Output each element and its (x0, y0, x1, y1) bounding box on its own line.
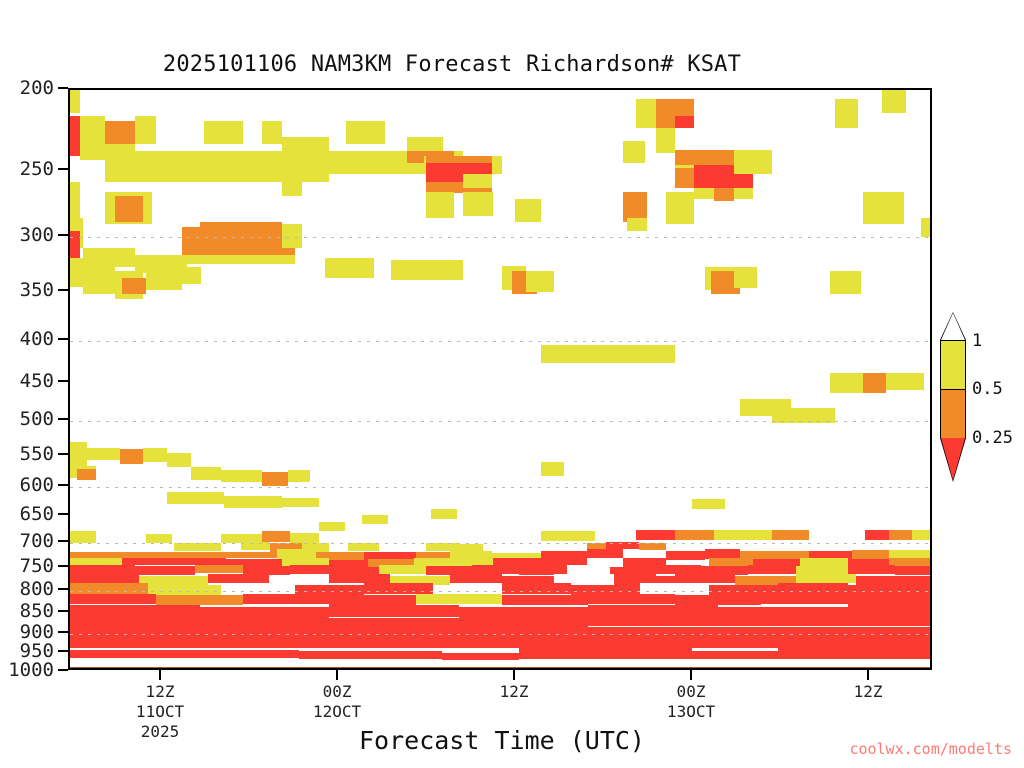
heatmap-cell (886, 373, 923, 389)
heatmap-cell (70, 650, 299, 658)
heatmap-cell (852, 550, 889, 559)
heatmap-cell (666, 192, 694, 225)
heatmap-cell (666, 551, 705, 560)
heatmap-cell (675, 99, 694, 116)
y-axis-tick (58, 418, 68, 420)
heatmap-cell (636, 99, 656, 128)
heatmap-cell (772, 530, 809, 540)
heatmap-cell (83, 248, 135, 266)
heatmap-cell (282, 137, 330, 182)
heatmap-cell (921, 218, 932, 237)
heatmap-cell (70, 90, 80, 113)
colorbar-segment-orange (941, 390, 965, 439)
x-axis-tick (690, 670, 692, 680)
heatmap-cell (329, 605, 459, 617)
heatmap-cell (459, 607, 589, 618)
heatmap-cell (541, 551, 587, 559)
heatmap-cell (182, 267, 201, 284)
heatmap-cell (221, 470, 262, 482)
y-axis-tick (58, 168, 68, 170)
heatmap-cell (105, 151, 282, 182)
heatmap-cell (204, 121, 243, 144)
heatmap-cells (70, 90, 930, 668)
gridline (70, 591, 930, 592)
heatmap-cell (262, 121, 282, 144)
heatmap-cell (587, 549, 623, 558)
heatmap-cell (120, 449, 143, 463)
heatmap-cell (848, 585, 932, 595)
heatmap-cell (848, 605, 932, 617)
heatmap-cell (761, 594, 847, 604)
x-axis-label-date: 13OCT (667, 702, 715, 722)
heatmap-cell (714, 530, 772, 540)
y-axis-label: 200 (0, 77, 54, 99)
heatmap-cell (348, 543, 379, 551)
y-axis-label: 550 (0, 443, 54, 465)
heatmap-cell (208, 574, 268, 583)
x-axis-label-time: 00Z (667, 682, 715, 702)
x-axis-tick (159, 670, 161, 680)
heatmap-cell (80, 116, 104, 144)
colorbar-divider (941, 389, 965, 390)
heatmap-cell (472, 565, 520, 574)
heatmap-cell (426, 156, 492, 163)
heatmap-cell (541, 462, 564, 476)
heatmap-cell (135, 566, 195, 575)
heatmap-cell (554, 574, 614, 583)
colorbar-segment-yellow (941, 341, 965, 390)
heatmap-cell (70, 617, 329, 625)
heatmap-cell (70, 116, 80, 156)
heatmap-cell (830, 271, 860, 294)
heatmap-cell (588, 594, 674, 604)
heatmap-cell (70, 442, 87, 454)
heatmap-cell (146, 534, 172, 543)
heatmap-cell (848, 565, 896, 574)
heatmap-cell (70, 574, 139, 583)
heatmap-cell (87, 448, 120, 460)
heatmap-cell (442, 653, 520, 661)
heatmap-cell (70, 558, 122, 565)
heatmap-cell (325, 258, 374, 278)
heatmap-cell (856, 576, 932, 585)
heatmap-cell (262, 472, 288, 486)
heatmap-cell (865, 530, 889, 540)
heatmap-cell (70, 258, 83, 287)
heatmap-cell (848, 595, 932, 606)
heatmap-cell (135, 116, 157, 144)
heatmap-cell (627, 218, 647, 230)
y-axis-tick (58, 610, 68, 612)
heatmap-cell (450, 574, 502, 583)
heatmap-cell (77, 469, 96, 480)
heatmap-cell (243, 594, 329, 604)
y-axis-tick (58, 540, 68, 542)
heatmap-cell (863, 373, 886, 392)
heatmap-cell (656, 128, 675, 153)
y-axis-label: 800 (0, 578, 54, 600)
heatmap-cell (70, 594, 156, 604)
heatmap-cell (675, 574, 735, 583)
heatmap-cell (346, 121, 385, 144)
y-axis-tick (58, 669, 68, 671)
y-axis-tick (58, 380, 68, 382)
heatmap-cell (541, 531, 595, 540)
gridline (70, 487, 930, 488)
heatmap-cell (734, 267, 757, 289)
y-axis-tick (58, 289, 68, 291)
colorbar-legend: 1 0.5 0.25 (940, 312, 970, 482)
y-axis-tick (58, 453, 68, 455)
heatmap-cell (675, 530, 714, 540)
colorbar-label-0.5: 0.5 (972, 379, 1003, 399)
heatmap-cell (502, 595, 588, 606)
x-axis-tick (336, 670, 338, 680)
y-axis-tick (58, 338, 68, 340)
y-axis-label: 450 (0, 370, 54, 392)
heatmap-cell (734, 150, 772, 174)
heatmap-cell (262, 531, 291, 542)
y-axis-label: 350 (0, 279, 54, 301)
colorbar-label-0.25: 0.25 (972, 428, 1013, 448)
gridline (70, 237, 930, 238)
heatmap-cell (526, 271, 554, 292)
chart-title: 2025101106 NAM3KM Forecast Richardson# K… (0, 52, 1024, 77)
y-axis-label: 600 (0, 474, 54, 496)
gridline-surface (70, 669, 930, 670)
y-axis-label: 400 (0, 328, 54, 350)
heatmap-cell (83, 267, 115, 295)
gridline (70, 341, 930, 342)
heatmap-cell (156, 595, 242, 606)
y-axis-tick (58, 87, 68, 89)
x-axis-label-date: 12OCT (313, 702, 361, 722)
colorbar-label-1: 1 (972, 331, 982, 351)
x-axis-label-time: 12Z (136, 682, 184, 702)
heatmap-cell (830, 373, 866, 392)
heatmap-cell (610, 567, 656, 576)
heatmap-cell (148, 585, 221, 595)
heatmap-cell (70, 565, 135, 574)
heatmap-cell (588, 617, 932, 625)
heatmap-cell (329, 595, 415, 606)
heatmap-cell (282, 182, 302, 196)
heatmap-cell (748, 565, 796, 574)
footer-watermark: coolwx.com/modelts (849, 740, 1012, 758)
heatmap-cell (146, 271, 182, 290)
y-axis-tick (58, 513, 68, 515)
y-axis-label: 250 (0, 158, 54, 180)
heatmap-cell (835, 99, 858, 128)
heatmap-cell (714, 188, 734, 202)
heatmap-cell (319, 522, 345, 532)
heatmap-cell (895, 566, 932, 575)
y-axis-tick (58, 484, 68, 486)
heatmap-cell (692, 499, 725, 509)
y-axis-tick (58, 588, 68, 590)
x-axis-label: 12Z (854, 682, 883, 702)
heatmap-cell (143, 448, 166, 462)
heatmap-cell (515, 199, 541, 222)
y-axis-label: 500 (0, 408, 54, 430)
heatmap-cell (329, 574, 389, 583)
heatmap-cell (636, 530, 675, 540)
heatmap-cell (362, 515, 388, 524)
heatmap-cell (167, 492, 224, 504)
heatmap-cell (567, 565, 610, 574)
heatmap-cell (122, 278, 146, 295)
heatmap-cell (122, 558, 226, 565)
heatmap-cell (426, 192, 455, 218)
terrain-band (70, 667, 930, 670)
heatmap-cell (70, 605, 200, 617)
heatmap-cell (200, 222, 282, 232)
x-axis-label: 12Z (500, 682, 529, 702)
x-axis-tick (513, 670, 515, 680)
y-axis-label: 650 (0, 503, 54, 525)
x-axis-label-date: 11OCT (136, 702, 184, 722)
heatmap-cell (167, 453, 191, 468)
heatmap-cell (195, 565, 243, 573)
heatmap-cell (70, 531, 96, 543)
y-axis-label: 300 (0, 224, 54, 246)
heatmap-cell (431, 509, 457, 519)
heatmap-cell (463, 174, 492, 188)
x-axis-label: 00Z12OCT (313, 682, 361, 722)
heatmap-cell (656, 99, 675, 128)
x-axis-tick (867, 670, 869, 680)
heatmap-cell (290, 565, 338, 574)
heatmap-cell (863, 192, 904, 225)
heatmap-cell (675, 595, 761, 606)
heatmap-cell (115, 196, 144, 222)
heatmap-cell (70, 231, 80, 258)
x-axis-label: 00Z13OCT (667, 682, 715, 722)
heatmap-cell (70, 636, 932, 648)
heatmap-cell (882, 90, 906, 113)
heatmap-cell (299, 651, 442, 659)
chart-title-text: 2025101106 NAM3KM Forecast Richardson# K… (163, 52, 741, 77)
x-axis-title-text: Forecast Time (UTC) (359, 726, 645, 755)
plot-area (68, 88, 932, 670)
heatmap-cell (139, 576, 208, 585)
heatmap-cell (639, 543, 667, 550)
heatmap-cell (379, 565, 426, 574)
heatmap-cell (174, 543, 222, 551)
x-axis-label-time: 12Z (500, 682, 529, 702)
y-axis-tick (58, 650, 68, 652)
heatmap-cell (623, 141, 645, 164)
y-axis-label: 700 (0, 530, 54, 552)
heatmap-cell (224, 496, 282, 508)
y-axis-label: 850 (0, 600, 54, 622)
heatmap-cell (519, 651, 932, 659)
gridline (70, 634, 930, 635)
colorbar-under-arrow-fill (941, 438, 965, 480)
y-axis-tick (58, 631, 68, 633)
heatmap-cell (288, 470, 310, 482)
heatmap-cell (675, 168, 694, 188)
colorbar-body (940, 340, 966, 438)
heatmap-cell (391, 260, 463, 280)
y-axis-label: 1000 (0, 659, 54, 681)
heatmap-cell (796, 574, 856, 583)
y-axis-tick (58, 565, 68, 567)
heatmap-cell (675, 116, 694, 128)
y-axis-tick (58, 234, 68, 236)
heatmap-cell (290, 533, 319, 543)
gridline (70, 543, 930, 544)
heatmap-cell (191, 467, 221, 480)
heatmap-cell (912, 530, 932, 540)
x-axis-label-time: 12Z (854, 682, 883, 702)
heatmap-cell (416, 594, 502, 604)
y-axis-label: 750 (0, 555, 54, 577)
x-axis-label-time: 00Z (313, 682, 361, 702)
heatmap-cell (541, 345, 675, 362)
heatmap-cell (588, 605, 718, 617)
chart-root: 2025101106 NAM3KM Forecast Richardson# K… (0, 0, 1024, 768)
heatmap-cell (889, 530, 912, 540)
gridline (70, 421, 930, 422)
heatmap-cell (463, 192, 493, 216)
heatmap-cell (282, 498, 319, 507)
heatmap-cell (656, 565, 701, 574)
